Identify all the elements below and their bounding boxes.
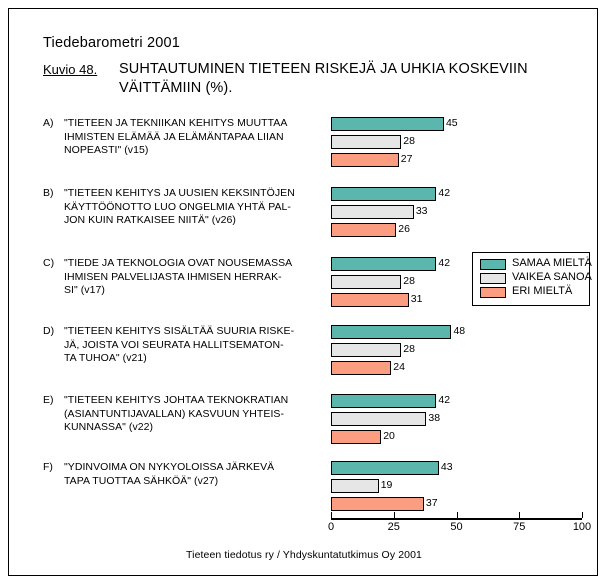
- bar-row: 28: [331, 343, 597, 357]
- bar-samaa-mielt-: [331, 394, 436, 408]
- group-statement-line: "TIETEEN KEHITYS JA UUSIEN KEKSINTÖJEN: [64, 187, 326, 201]
- group-letter: E): [43, 394, 65, 406]
- group-letter: A): [43, 117, 65, 129]
- x-axis-tick-label: 0: [316, 521, 346, 533]
- x-axis-tick: [331, 512, 332, 518]
- bar-eri-mielt-: [331, 361, 391, 375]
- bar-value-label: 27: [401, 152, 413, 167]
- bar-cluster: 423326: [331, 187, 597, 241]
- group-statement-line: IHMISEN PALVELIJASTA IHMISEN HERRAK-: [64, 271, 326, 285]
- group-letter: C): [43, 257, 65, 269]
- bar-value-label: 38: [428, 411, 440, 426]
- bar-eri-mielt-: [331, 223, 396, 237]
- bar-value-label: 28: [403, 274, 415, 289]
- bar-row: 19: [331, 479, 597, 493]
- group-statement-line: IHMISTEN ELÄMÄÄ JA ELÄMÄNTAPAA LIIAN: [64, 131, 326, 145]
- bar-vaikea-sanoa: [331, 479, 379, 493]
- bar-value-label: 19: [381, 478, 393, 493]
- group-letter: F): [43, 461, 65, 473]
- group-statement: "TIETEEN KEHITYS JOHTAA TEKNOKRATIAN(ASI…: [64, 394, 326, 435]
- legend-swatch: [480, 259, 506, 270]
- bar-row: 26: [331, 223, 597, 237]
- bar-value-label: 42: [438, 393, 450, 408]
- bar-vaikea-sanoa: [331, 275, 401, 289]
- legend-swatch: [480, 287, 506, 298]
- group-statement: "TIETEEN KEHITYS SISÄLTÄÄ SUURIA RISKE-J…: [64, 325, 326, 366]
- bar-value-label: 43: [441, 460, 453, 475]
- bar-row: 42: [331, 394, 597, 408]
- group-statement-line: SI" (v17): [64, 284, 326, 298]
- group-statement: "TIETEEN JA TEKNIIKAN KEHITYS MUUTTAAIHM…: [64, 117, 326, 158]
- bar-samaa-mielt-: [331, 325, 451, 339]
- group-statement: "YDINVOIMA ON NYKYOLOISSA JÄRKEVÄTAPA TU…: [64, 461, 326, 488]
- group-statement-line: TA TUHOA" (v21): [64, 352, 326, 366]
- x-axis-tick-label: 25: [379, 521, 409, 533]
- bar-value-label: 28: [403, 342, 415, 357]
- chart-legend: SAMAA MIELTÄVAIKEA SANOAERI MIELTÄ: [472, 252, 590, 306]
- bar-value-label: 26: [398, 222, 410, 237]
- x-axis-tick: [519, 512, 520, 518]
- legend-label: ERI MIELTÄ: [512, 285, 572, 297]
- legend-label: VAIKEA SANOA: [512, 271, 592, 283]
- group-letter: D): [43, 325, 65, 337]
- bar-eri-mielt-: [331, 293, 409, 307]
- bar-row: 38: [331, 412, 597, 426]
- bar-value-label: 48: [453, 324, 465, 339]
- bar-value-label: 45: [446, 116, 458, 131]
- group-statement-line: (ASIANTUNTIJAVALLAN) KASVUUN YHTEIS-: [64, 408, 326, 422]
- bar-value-label: 28: [403, 134, 415, 149]
- bar-row: 27: [331, 153, 597, 167]
- bar-vaikea-sanoa: [331, 343, 401, 357]
- x-axis-tick-label: 75: [504, 521, 534, 533]
- x-axis-tick-label: 50: [442, 521, 472, 533]
- bar-cluster: 423820: [331, 394, 597, 448]
- group-statement-line: "TIETEEN KEHITYS SISÄLTÄÄ SUURIA RISKE-: [64, 325, 326, 339]
- group-statement-line: "TIETEEN JA TEKNIIKAN KEHITYS MUUTTAA: [64, 117, 326, 131]
- bar-vaikea-sanoa: [331, 135, 401, 149]
- bar-row: 33: [331, 205, 597, 219]
- group-statement: "TIEDE JA TEKNOLOGIA OVAT NOUSEMASSAIHMI…: [64, 257, 326, 298]
- group-statement-line: TAPA TUOTTAA SÄHKÖÄ" (v27): [64, 475, 326, 489]
- group-statement-line: KÄYTTÖÖNOTTO LUO ONGELMIA YHTÄ PAL-: [64, 201, 326, 215]
- bar-row: 42: [331, 187, 597, 201]
- group-statement-line: "TIETEEN KEHITYS JOHTAA TEKNOKRATIAN: [64, 394, 326, 408]
- figure-frame: Tiedebarometri 2001 Kuvio 48. SUHTAUTUMI…: [8, 8, 598, 576]
- legend-swatch: [480, 273, 506, 284]
- bar-row: 45: [331, 117, 597, 131]
- group-statement-line: NOPEASTI" (v15): [64, 144, 326, 158]
- x-axis-tick: [457, 512, 458, 518]
- x-axis-tick: [394, 512, 395, 518]
- bar-value-label: 20: [383, 429, 395, 444]
- bar-cluster: 482824: [331, 325, 597, 379]
- bar-value-label: 42: [438, 186, 450, 201]
- bar-samaa-mielt-: [331, 117, 444, 131]
- group-statement-line: "TIEDE JA TEKNOLOGIA OVAT NOUSEMASSA: [64, 257, 326, 271]
- bar-row: 24: [331, 361, 597, 375]
- bar-row: 28: [331, 135, 597, 149]
- bar-eri-mielt-: [331, 497, 424, 511]
- x-axis-line: [331, 518, 582, 520]
- bar-value-label: 24: [393, 360, 405, 375]
- group-statement: "TIETEEN KEHITYS JA UUSIEN KEKSINTÖJENKÄ…: [64, 187, 326, 228]
- group-letter: B): [43, 187, 65, 199]
- group-statement-line: JÄ, JOISTA VOI SEURATA HALLITSEMATON-: [64, 339, 326, 353]
- bar-value-label: 33: [416, 204, 428, 219]
- x-axis-tick: [582, 512, 583, 518]
- bar-cluster: 431937: [331, 461, 597, 515]
- group-statement-line: "YDINVOIMA ON NYKYOLOISSA JÄRKEVÄ: [64, 461, 326, 475]
- bar-value-label: 42: [438, 256, 450, 271]
- group-statement-line: JON KUIN RATKAISEE NIITÄ" (v26): [64, 214, 326, 228]
- bar-samaa-mielt-: [331, 461, 439, 475]
- group-statement-line: KUNNASSA" (v22): [64, 421, 326, 435]
- legend-label: SAMAA MIELTÄ: [512, 257, 592, 269]
- bar-value-label: 37: [426, 496, 438, 511]
- figure-footer: Tieteen tiedotus ry / Yhdyskuntatutkimus…: [9, 549, 599, 561]
- bar-row: 48: [331, 325, 597, 339]
- bar-row: 43: [331, 461, 597, 475]
- bar-row: 37: [331, 497, 597, 511]
- bar-samaa-mielt-: [331, 187, 436, 201]
- bar-row: 20: [331, 430, 597, 444]
- bar-eri-mielt-: [331, 430, 381, 444]
- bar-vaikea-sanoa: [331, 205, 414, 219]
- bar-eri-mielt-: [331, 153, 399, 167]
- bar-cluster: 452827: [331, 117, 597, 171]
- bar-vaikea-sanoa: [331, 412, 426, 426]
- bar-value-label: 31: [411, 292, 423, 307]
- x-axis-tick-label: 100: [567, 521, 597, 533]
- bar-samaa-mielt-: [331, 257, 436, 271]
